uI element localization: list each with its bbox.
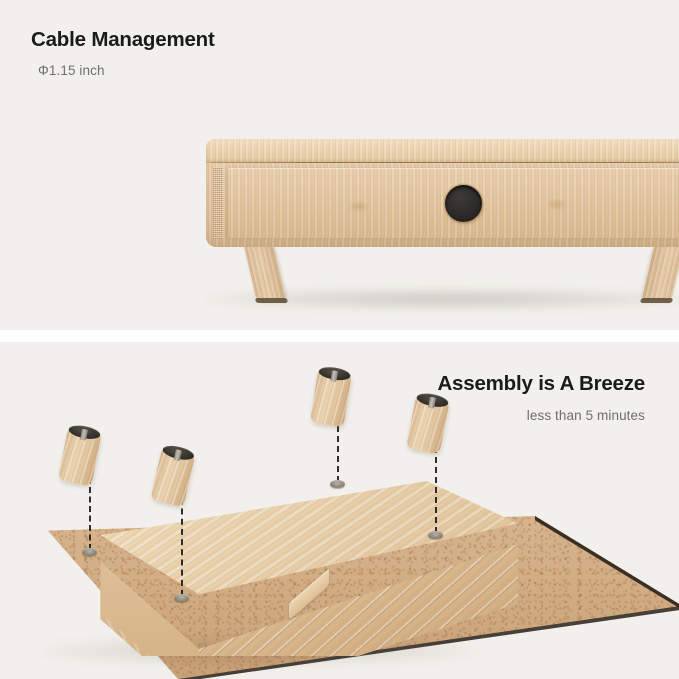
wood-knot-icon xyxy=(348,200,370,213)
stand-body xyxy=(206,163,679,247)
caption-cable-management: Cable Management Φ1.15 inch xyxy=(31,28,215,79)
screw-hole xyxy=(174,594,189,602)
panel-divider xyxy=(0,330,679,342)
subline-assembly-time: less than 5 minutes xyxy=(437,408,645,424)
screw-hole xyxy=(330,480,345,488)
screw-hole xyxy=(428,531,443,539)
product-infographic: Cable Management Φ1.15 inch xyxy=(0,0,679,679)
bamboo-monitor-stand-iso-view xyxy=(38,481,518,656)
panel-cable-management: Cable Management Φ1.15 inch xyxy=(0,0,679,330)
caption-assembly: Assembly is A Breeze less than 5 minutes xyxy=(437,372,645,424)
stand-top-surface xyxy=(206,139,679,163)
bamboo-monitor-stand-side-view xyxy=(206,139,679,269)
screw-hole xyxy=(82,548,97,556)
subline-grommet-diameter: Φ1.15 inch xyxy=(38,63,215,79)
headline-assembly: Assembly is A Breeze xyxy=(437,372,645,397)
headline-cable-management: Cable Management xyxy=(31,28,215,53)
stand-left-end-grain-rail xyxy=(213,167,223,239)
cable-grommet-hole-icon xyxy=(445,185,482,222)
wood-knot-icon xyxy=(546,198,568,211)
